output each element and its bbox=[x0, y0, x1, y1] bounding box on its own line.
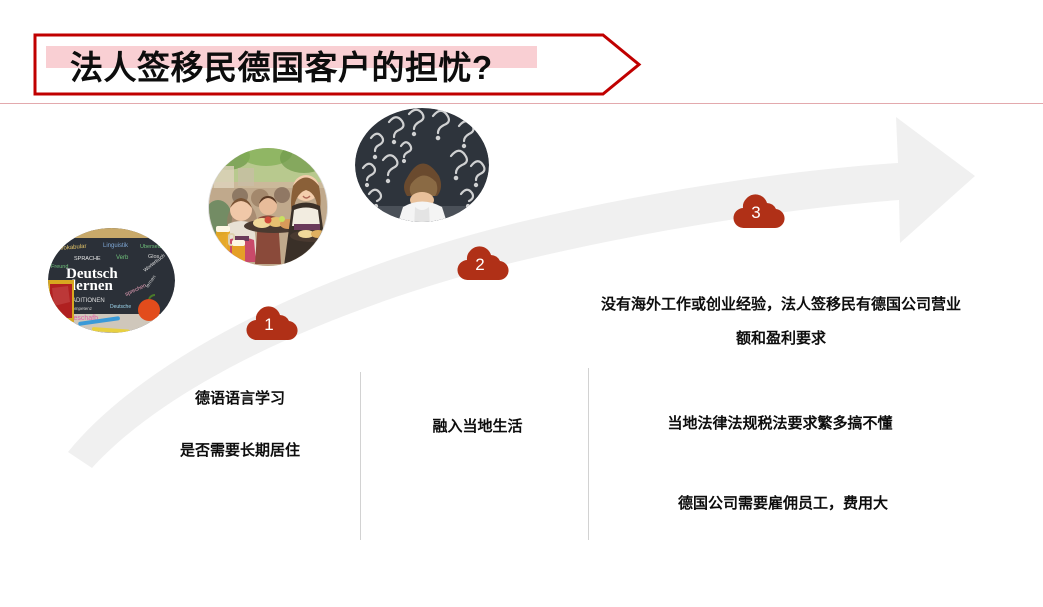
badge-2-number: 2 bbox=[448, 240, 512, 282]
svg-text:Deutsche: Deutsche bbox=[110, 304, 131, 310]
column-divider-2 bbox=[588, 368, 589, 540]
photo-question-marks-blackboard bbox=[355, 108, 489, 222]
svg-text:lernen: lernen bbox=[72, 278, 113, 294]
badge-2: 2 bbox=[448, 240, 512, 282]
column-1-line-1: 德语语言学习 bbox=[140, 382, 340, 416]
svg-text:Linguistik: Linguistik bbox=[103, 243, 129, 249]
column-1-line-2: 是否需要长期居住 bbox=[150, 435, 330, 466]
page-title: 法人签移民德国客户的担忧? bbox=[33, 33, 593, 96]
svg-text:SPRACHE: SPRACHE bbox=[74, 256, 101, 262]
badge-3-number: 3 bbox=[724, 188, 788, 230]
column-3-line-1: 没有海外工作或创业经验，法人签移民有德国公司营业额和盈利要求 bbox=[596, 288, 966, 356]
column-3-line-2: 当地法律法规税法要求繁多搞不懂 bbox=[600, 407, 960, 441]
photo-oktoberfest-beer-garden bbox=[208, 148, 328, 266]
column-divider-1 bbox=[360, 372, 361, 540]
column-3-line-3: 德国公司需要雇佣员工，费用大 bbox=[608, 487, 958, 521]
column-2-line-1: 融入当地生活 bbox=[390, 410, 565, 444]
svg-text:Ubersetz: Ubersetz bbox=[140, 244, 162, 250]
slide-canvas: Vokabular Linguistik Ubersetz SPRACHE Ve… bbox=[0, 0, 1043, 607]
badge-1-number: 1 bbox=[237, 300, 301, 342]
badge-1: 1 bbox=[237, 300, 301, 342]
title-underline-rule bbox=[0, 103, 1043, 104]
svg-text:Verb: Verb bbox=[116, 255, 129, 261]
photo-chalkboard-deutsch-lernen: Vokabular Linguistik Ubersetz SPRACHE Ve… bbox=[48, 228, 175, 333]
badge-3: 3 bbox=[724, 188, 788, 230]
